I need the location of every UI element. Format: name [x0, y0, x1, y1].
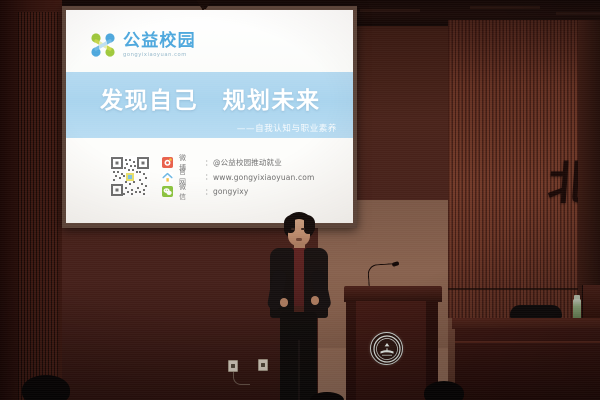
contact-value: @公益校园推动就业 [213, 157, 282, 168]
audience-silhouette [424, 381, 464, 400]
contact-separator: ： [205, 158, 212, 168]
left-wall-slats [18, 12, 58, 400]
slide-header-area: 公益校园 gongyixiaoyuan.com [66, 10, 353, 72]
audience-table-trim [455, 341, 600, 343]
presenter-leg-split [298, 340, 300, 400]
presenter-hair-right [304, 215, 315, 234]
home-website-icon [162, 172, 173, 183]
outlet-cord [233, 372, 250, 385]
wall-outlet [258, 359, 268, 371]
presenter-hand-left [280, 298, 288, 307]
slide-subtitle: ——自我认知与职业素养 [237, 122, 337, 134]
brand-url: gongyixiaoyuan.com [123, 53, 196, 58]
presenter-mouth [296, 238, 302, 241]
black-bag [510, 305, 562, 319]
lectern-top [344, 286, 442, 302]
qr-code-icon [110, 156, 150, 197]
presenter-hair-left [284, 215, 295, 233]
presenter-eye-right [301, 228, 305, 230]
side-wood-panel [582, 285, 600, 321]
contact-separator: ： [205, 172, 212, 182]
ceiling-vent [360, 9, 420, 12]
university-crest-icon [370, 332, 403, 365]
presenter [258, 212, 338, 400]
projection-screen: 公益校园 gongyixiaoyuan.com 发现自己 规划未来 ——自我认知… [66, 10, 353, 223]
contact-value: gongyixy [213, 187, 248, 196]
slide-footer-area: 微 博 ： @公益校园推动就业 官 网 ： [66, 138, 353, 223]
contact-separator: ： [205, 187, 212, 197]
ceiling-vent [470, 6, 540, 9]
wechat-icon [162, 186, 173, 197]
wall-outlet [228, 360, 238, 372]
audience-silhouette [22, 375, 70, 400]
photo-scene: 北 [0, 0, 600, 400]
brand-name: 公益校园 [123, 33, 196, 50]
weibo-icon [162, 157, 173, 168]
slide-title: 发现自己 规划未来 [100, 90, 321, 113]
contact-value: www.gongyixiaoyuan.com [213, 173, 314, 182]
brand-logo: 公益校园 gongyixiaoyuan.com [88, 31, 196, 59]
presentation-slide: 公益校园 gongyixiaoyuan.com 发现自己 规划未来 ——自我认知… [66, 10, 353, 223]
ceiling-vent [556, 12, 600, 15]
presenter-hand-right [311, 296, 319, 305]
audience-table-body [455, 328, 600, 400]
contact-key: 微 信 [179, 182, 205, 202]
contact-list: 微 博 ： @公益校园推动就业 官 网 ： [162, 156, 314, 200]
contact-row-wechat: 微 信 ： gongyixy [162, 185, 314, 198]
people-circle-logo-icon [88, 31, 118, 59]
left-wall-column [0, 0, 62, 400]
presenter-eye-left [291, 228, 295, 230]
